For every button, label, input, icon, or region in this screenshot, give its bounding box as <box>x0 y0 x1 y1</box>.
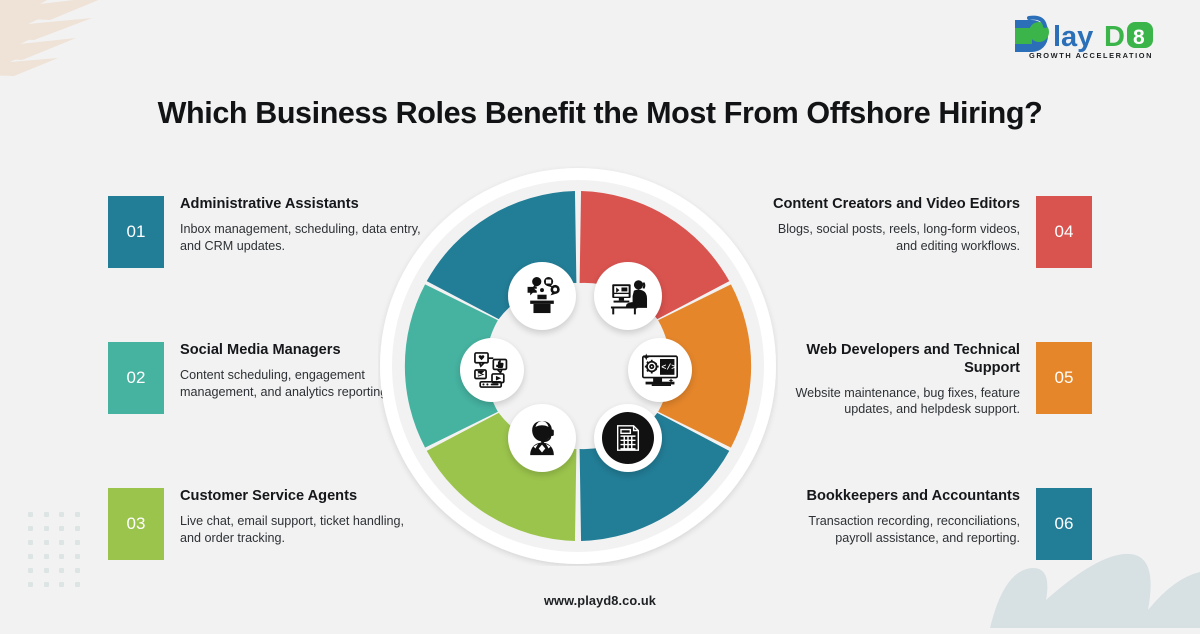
role-desc-06: Transaction recording, reconciliations, … <box>772 513 1020 547</box>
role-number-badge-02: 02 <box>108 342 164 414</box>
role-number-badge-05: 05 <box>1036 342 1092 414</box>
role-title-06: Bookkeepers and Accountants <box>772 488 1020 506</box>
role-number-badge-06: 06 <box>1036 488 1092 560</box>
role-title-04: Content Creators and Video Editors <box>772 196 1020 214</box>
calculator-icon-bubble[interactable] <box>594 404 662 472</box>
role-number-badge-01: 01 <box>108 196 164 268</box>
website-footer[interactable]: www.playd8.co.uk <box>0 593 1200 608</box>
role-item-06[interactable]: 06 Bookkeepers and Accountants Transacti… <box>772 488 1092 608</box>
role-number-badge-03: 03 <box>108 488 164 560</box>
logo-tagline: GROWTH ACCELERATION <box>1029 51 1153 60</box>
role-item-05[interactable]: 05 Web Developers and Technical Support … <box>772 342 1092 462</box>
playd8-logo[interactable]: lay D 8 GROWTH ACCELERATION <box>1009 14 1174 62</box>
dot-grid-decoration <box>28 512 84 590</box>
svg-text:</>: </> <box>661 362 676 372</box>
svg-text:8: 8 <box>1133 26 1145 49</box>
admin-desk-icon-bubble[interactable] <box>508 262 576 330</box>
role-title-05: Web Developers and Technical Support <box>772 342 1020 378</box>
calculator-icon <box>613 423 643 453</box>
scribble-decoration <box>0 0 180 80</box>
role-item-04[interactable]: 04 Content Creators and Video Editors Bl… <box>772 196 1092 316</box>
role-desc-05: Website maintenance, bug fixes, feature … <box>772 385 1020 419</box>
roles-wheel-diagram: </> <box>378 166 778 566</box>
role-number-badge-04: 04 <box>1036 196 1092 268</box>
video-editor-icon-bubble[interactable] <box>594 262 662 330</box>
code-monitor-icon-bubble[interactable]: </> <box>628 338 692 402</box>
admin-desk-icon <box>521 275 563 317</box>
social-media-icon <box>471 349 513 391</box>
social-media-icon-bubble[interactable] <box>460 338 524 402</box>
page-title: Which Business Roles Benefit the Most Fr… <box>0 96 1200 131</box>
headset-agent-icon-bubble[interactable] <box>508 404 576 472</box>
svg-text:lay: lay <box>1053 21 1093 53</box>
video-editor-icon <box>607 275 649 317</box>
code-monitor-icon: </> <box>638 348 682 392</box>
role-desc-04: Blogs, social posts, reels, long-form vi… <box>772 221 1020 255</box>
right-roles-column: 04 Content Creators and Video Editors Bl… <box>772 196 1092 634</box>
svg-text:D: D <box>1104 21 1125 53</box>
headset-agent-icon <box>521 417 563 459</box>
